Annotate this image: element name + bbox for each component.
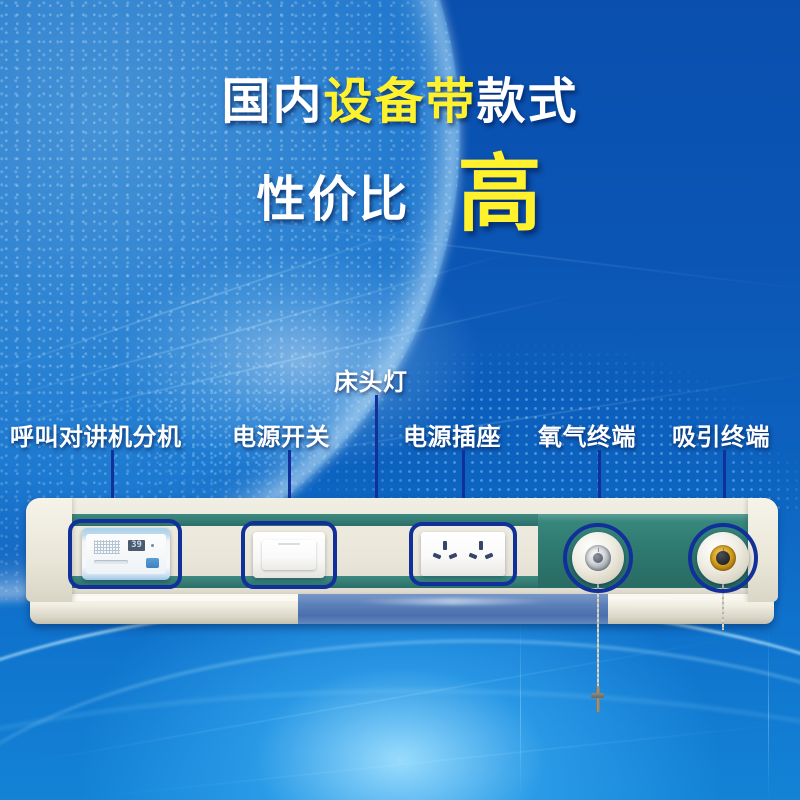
callout-label-oxygen-terminal: 氧气终端 bbox=[538, 417, 636, 452]
callout-label-suction-terminal: 吸引终端 bbox=[672, 417, 770, 452]
highlight-circle-oxygen bbox=[563, 523, 633, 593]
end-cap-left bbox=[26, 498, 72, 602]
callout-label-intercom-extension: 呼叫对讲机分机 bbox=[10, 417, 182, 452]
headline-line-2: 性价比高 bbox=[0, 149, 800, 225]
light-streak bbox=[0, 215, 446, 385]
highlight-box-switch bbox=[241, 521, 337, 589]
oxygen-pull-cord[interactable] bbox=[597, 584, 599, 694]
headline-text-style: 款式 bbox=[477, 75, 579, 129]
light-streak bbox=[0, 295, 572, 431]
headline-line-1: 国内设备带款式 bbox=[0, 78, 800, 127]
callout-label-power-switch: 电源开关 bbox=[232, 417, 330, 452]
bottom-rail bbox=[30, 594, 774, 624]
light-streak bbox=[0, 253, 509, 408]
headline-text-value-ratio: 性价比 bbox=[256, 176, 409, 225]
vertical-light-line bbox=[768, 630, 769, 800]
headline-block: 国内设备带款式 性价比高 bbox=[0, 78, 800, 225]
vertical-light-line bbox=[520, 620, 521, 800]
headline-text-equipment-belt: 设备带 bbox=[323, 75, 476, 129]
callout-label-power-socket: 电源插座 bbox=[403, 417, 501, 452]
highlight-circle-suction bbox=[688, 523, 758, 593]
headline-text-domestic: 国内 bbox=[221, 75, 323, 129]
highlight-box-socket bbox=[409, 522, 517, 586]
callout-label-bed-head-lamp: 床头灯 bbox=[334, 362, 408, 397]
highlight-box-intercom bbox=[68, 519, 182, 589]
headline-text-high: 高 bbox=[458, 157, 544, 233]
poster-canvas: 国内设备带款式 性价比高 呼叫对讲机分机 电源开关 床头灯 电源插座 氧气终端 … bbox=[0, 0, 800, 800]
rail-reflection bbox=[298, 594, 608, 624]
pull-cord-handle[interactable] bbox=[591, 686, 604, 712]
